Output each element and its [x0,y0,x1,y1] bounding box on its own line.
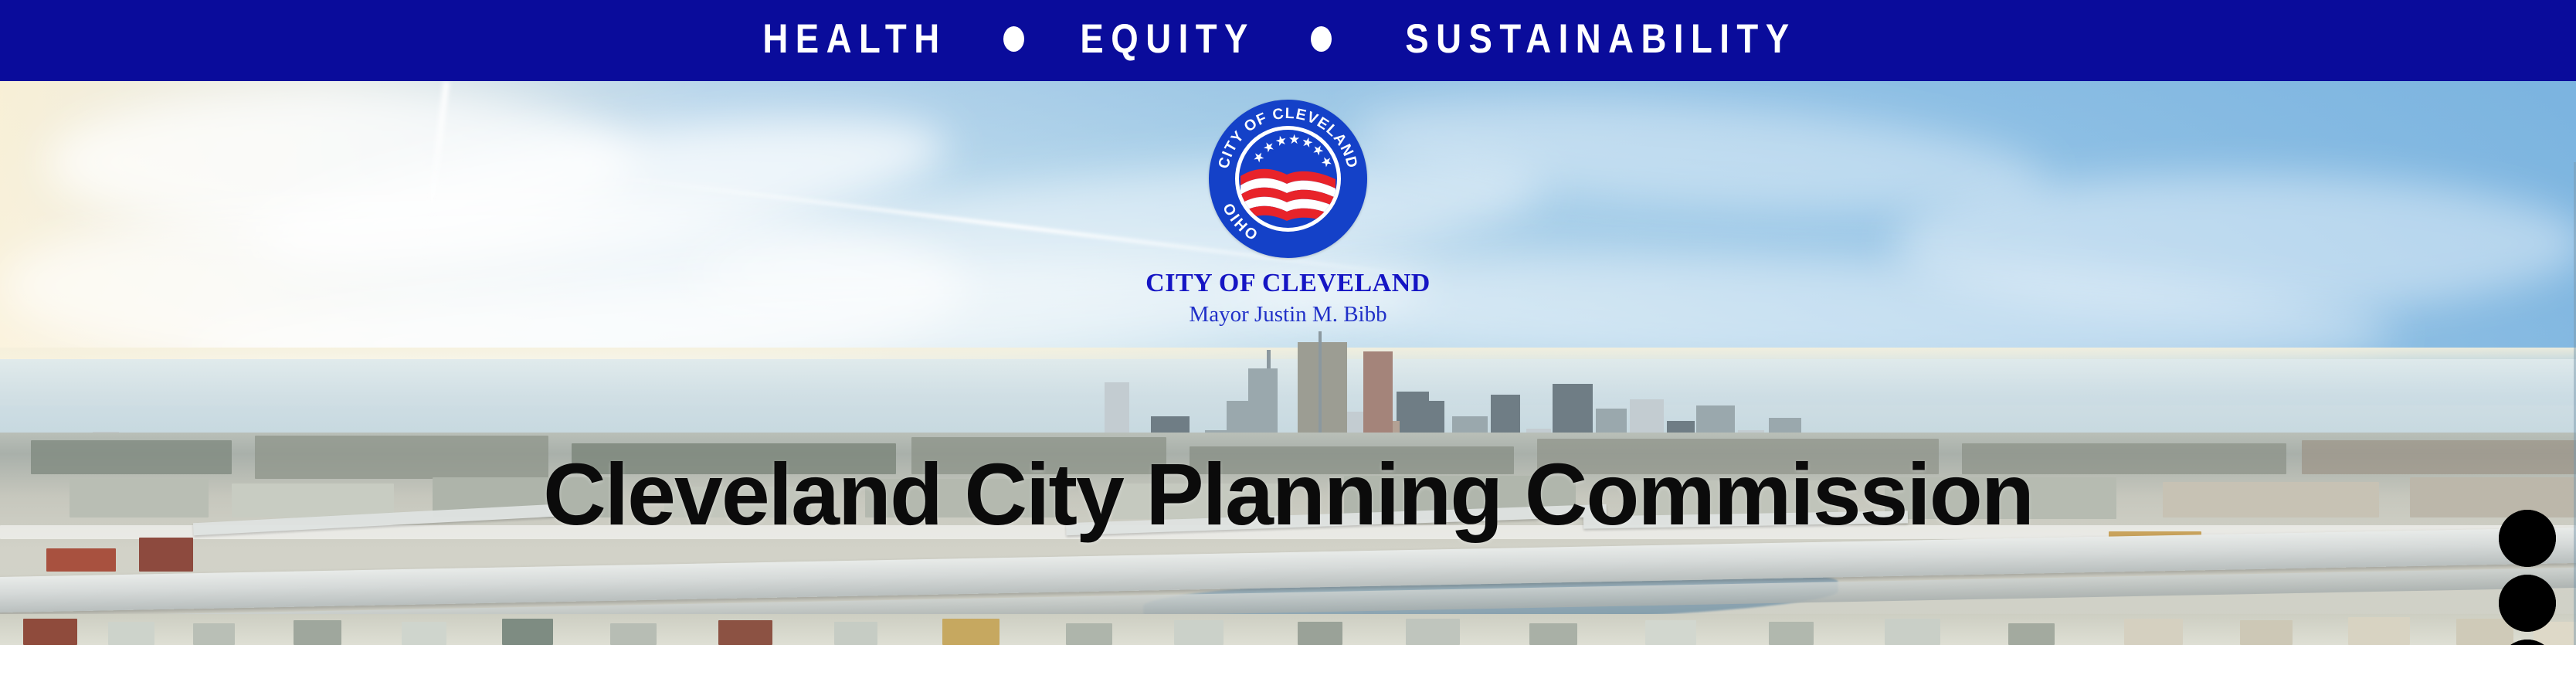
seal-blue-field: ★ ★ ★ ★ ★ ★ ★ [1239,130,1337,228]
facebook-icon [2499,640,2556,645]
hero-photo: CITY OF CLEVELAND OHIO ★ ★ ★ ★ ★ ★ ★ [0,81,2576,645]
star-icon: ★ [1274,133,1288,148]
city-of-cleveland-seal-icon: CITY OF CLEVELAND OHIO ★ ★ ★ ★ ★ ★ ★ [1209,100,1367,258]
tagline-word-health: HEALTH [762,15,946,63]
star-icon: ★ [1288,133,1300,146]
tagline-banner: HEALTH EQUITY SUSTAINABILITY [0,0,2576,81]
bullet-dot-icon [1003,26,1024,52]
instagram-link[interactable] [2499,575,2556,632]
american-flag-icon [1239,164,1337,228]
page-title: Cleveland City Planning Commission [0,444,2576,545]
facebook-link[interactable] [2499,640,2556,645]
organization-name: CITY OF CLEVELAND [1145,269,1431,298]
mayor-name: Mayor Justin M. Bibb [1189,302,1386,327]
bullet-dot-icon [1311,26,1332,52]
city-logo-block: CITY OF CLEVELAND OHIO ★ ★ ★ ★ ★ ★ ★ [1078,81,1498,328]
instagram-icon [2499,575,2556,632]
tagline-inner: HEALTH EQUITY SUSTAINABILITY [748,15,1828,63]
tagline-word-equity: EQUITY [1080,15,1254,63]
tagline-word-sustainability: SUSTAINABILITY [1405,15,1796,63]
suburban-neighborhood [0,614,2576,645]
page-root: HEALTH EQUITY SUSTAINABILITY [0,0,2576,682]
